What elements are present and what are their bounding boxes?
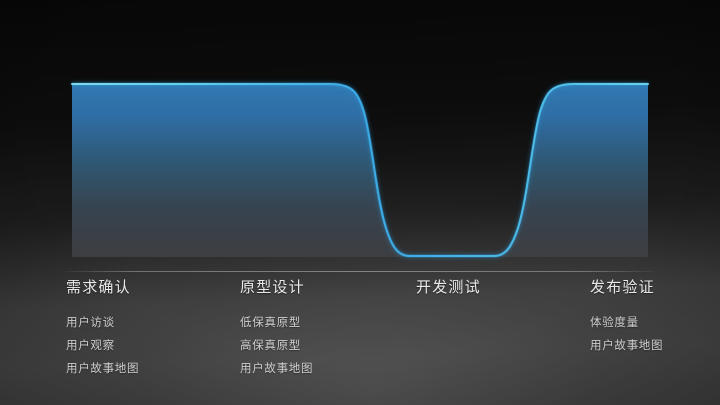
list-item: 用户观察: [66, 335, 139, 358]
phase-item-list: 体验度量 用户故事地图: [590, 312, 663, 358]
list-item: 高保真原型: [240, 335, 313, 358]
phase-title: 发布验证: [590, 278, 663, 298]
phase-item-list: 用户访谈 用户观察 用户故事地图: [66, 312, 139, 381]
list-item: 用户故事地图: [590, 335, 663, 358]
phase-title: 原型设计: [240, 278, 313, 298]
phase-column-1: 需求确认 用户访谈 用户观察 用户故事地图: [66, 278, 139, 381]
phase-item-list: 低保真原型 高保真原型 用户故事地图: [240, 312, 313, 381]
list-item: 用户故事地图: [66, 358, 139, 381]
list-item: 低保真原型: [240, 312, 313, 335]
list-item: 体验度量: [590, 312, 663, 335]
list-item: 用户故事地图: [240, 358, 313, 381]
list-item: 用户访谈: [66, 312, 139, 335]
phase-column-4: 发布验证 体验度量 用户故事地图: [590, 278, 663, 358]
phase-column-2: 原型设计 低保真原型 高保真原型 用户故事地图: [240, 278, 313, 381]
area-fill: [72, 84, 648, 257]
phase-columns: 需求确认 用户访谈 用户观察 用户故事地图 原型设计 低保真原型 高保真原型 用…: [0, 278, 720, 398]
section-divider: [65, 271, 655, 272]
slide-canvas: 需求确认 用户访谈 用户观察 用户故事地图 原型设计 低保真原型 高保真原型 用…: [0, 0, 720, 405]
phase-title: 开发测试: [416, 278, 481, 298]
phase-title: 需求确认: [66, 278, 139, 298]
phase-column-3: 开发测试: [416, 278, 481, 312]
